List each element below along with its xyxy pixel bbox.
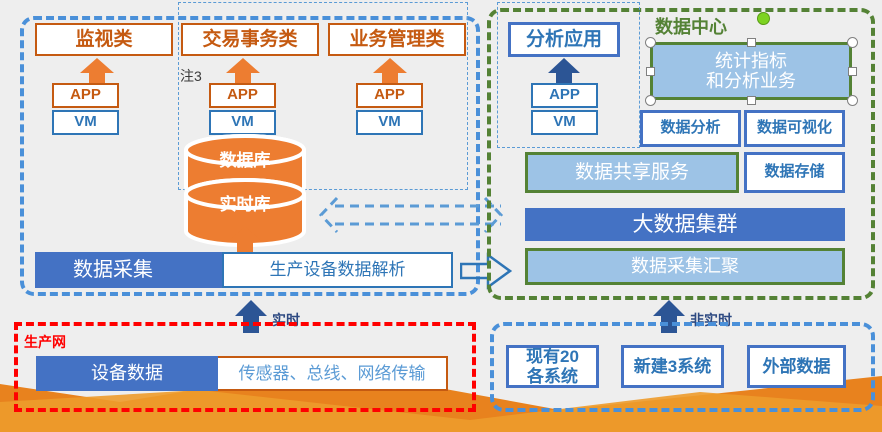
- data-sharing-service-box[interactable]: 数据共享服务: [525, 152, 739, 193]
- app-label: APP: [227, 87, 258, 104]
- app-box-2[interactable]: APP: [356, 83, 423, 108]
- resize-handle-w[interactable]: [646, 67, 655, 76]
- vm-label: VM: [553, 114, 576, 131]
- database-label: 数据库: [220, 151, 271, 170]
- existing-systems-line-2: 各系统: [527, 367, 578, 386]
- statistics-line-1: 统计指标: [715, 51, 787, 71]
- existing-systems-line-1: 现有20: [526, 347, 579, 366]
- vm-box-0[interactable]: VM: [52, 110, 119, 135]
- app-category-box-0[interactable]: 监视类: [35, 23, 173, 56]
- app-box-1[interactable]: APP: [209, 83, 276, 108]
- sensor-bus-network-label: 传感器、总线、网络传输: [239, 364, 426, 383]
- analysis-app-box[interactable]: 分析应用: [508, 22, 620, 57]
- database-label-1: 实时库: [182, 192, 308, 218]
- existing-systems-box[interactable]: 现有20 各系统: [506, 345, 599, 388]
- analysis-app-label: 分析应用: [526, 29, 602, 50]
- resize-handle-e[interactable]: [848, 67, 857, 76]
- new-systems-label: 新建3系统: [634, 357, 711, 376]
- device-parse-label: 生产设备数据解析: [270, 260, 406, 279]
- new-systems-box[interactable]: 新建3系统: [621, 345, 724, 388]
- resize-handle-s[interactable]: [747, 96, 756, 105]
- production-network-label: 生产网: [24, 332, 66, 352]
- data-collection-label: 数据采集: [73, 259, 153, 281]
- data-storage-label: 数据存储: [764, 164, 824, 181]
- diagram-canvas: 注3 监视类 APP VM 交易事务类 APP VM 业务管理类 APP VM: [0, 0, 882, 432]
- external-data-box[interactable]: 外部数据: [747, 345, 846, 388]
- vm-label: VM: [231, 114, 254, 131]
- statistics-analysis-box[interactable]: 统计指标 和分析业务: [650, 42, 852, 100]
- resize-handle-n[interactable]: [747, 38, 756, 47]
- app-category-label: 交易事务类: [202, 29, 297, 50]
- app-label: APP: [549, 87, 580, 104]
- external-data-label: 外部数据: [763, 357, 831, 376]
- resize-handle-se[interactable]: [847, 95, 858, 106]
- resize-handle-nw[interactable]: [645, 37, 656, 48]
- statistics-line-2: 和分析业务: [706, 71, 796, 91]
- sensor-bus-network-box[interactable]: 传感器、总线、网络传输: [218, 356, 448, 391]
- analysis-vm-box[interactable]: VM: [531, 110, 598, 135]
- database-label: 实时库: [220, 195, 271, 214]
- data-storage-box[interactable]: 数据存储: [744, 152, 845, 193]
- data-analysis-label: 数据分析: [660, 120, 720, 137]
- app-category-label: 业务管理类: [349, 29, 444, 50]
- big-data-cluster-box[interactable]: 大数据集群: [525, 208, 845, 241]
- vm-label: VM: [378, 114, 401, 131]
- bidirectional-dashed-arrow: [315, 196, 505, 238]
- vm-box-2[interactable]: VM: [356, 110, 423, 135]
- device-parse-box[interactable]: 生产设备数据解析: [222, 252, 453, 288]
- data-visualization-box[interactable]: 数据可视化: [744, 110, 845, 147]
- resize-handle-ne[interactable]: [847, 37, 858, 48]
- resize-handle-sw[interactable]: [645, 95, 656, 106]
- device-data-label: 设备数据: [91, 363, 163, 383]
- data-analysis-box[interactable]: 数据分析: [640, 110, 741, 147]
- app-label: APP: [374, 87, 405, 104]
- data-aggregation-label: 数据采集汇聚: [631, 256, 739, 276]
- rotate-handle[interactable]: [757, 12, 770, 25]
- data-aggregation-box[interactable]: 数据采集汇聚: [525, 248, 845, 285]
- data-visualization-label: 数据可视化: [757, 120, 832, 137]
- app-category-box-1[interactable]: 交易事务类: [181, 23, 319, 56]
- app-label: APP: [70, 87, 101, 104]
- app-category-label: 监视类: [75, 29, 132, 50]
- analysis-app-box[interactable]: APP: [531, 83, 598, 108]
- device-data-bar[interactable]: 设备数据: [36, 356, 218, 391]
- big-data-cluster-label: 大数据集群: [633, 213, 738, 237]
- data-sharing-label: 数据共享服务: [575, 162, 689, 183]
- vm-label: VM: [74, 114, 97, 131]
- app-box-0[interactable]: APP: [52, 83, 119, 108]
- data-center-label: 数据中心: [655, 13, 727, 39]
- note-3-label: 注3: [180, 66, 202, 86]
- app-category-box-2[interactable]: 业务管理类: [328, 23, 466, 56]
- database-label-0: 数据库: [182, 148, 308, 174]
